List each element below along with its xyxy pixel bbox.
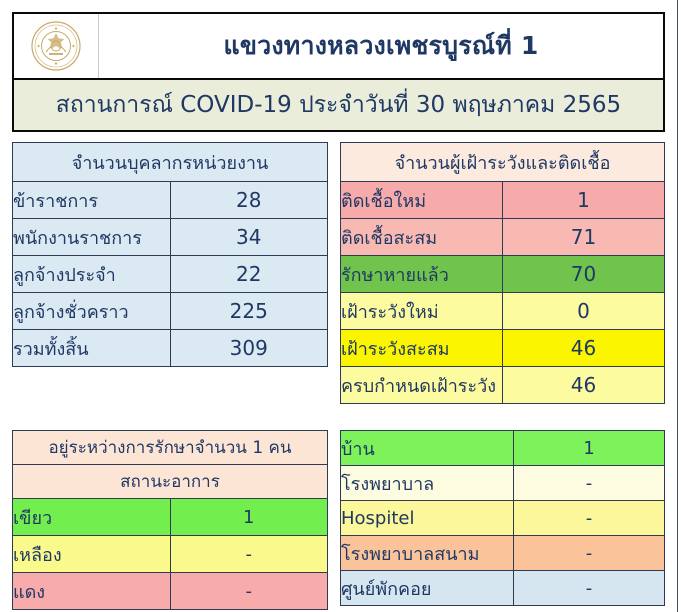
row-label: ลูกจ้างประจำ bbox=[13, 256, 171, 293]
row-label: โรงพยาบาล bbox=[341, 466, 514, 501]
table-row: เขียว 1 bbox=[13, 499, 328, 536]
row-label: แดง bbox=[13, 573, 171, 610]
row-label: Hospitel bbox=[341, 501, 514, 536]
row-value: 22 bbox=[170, 256, 328, 293]
row-value: - bbox=[514, 571, 665, 606]
row-value: - bbox=[514, 536, 665, 571]
row-value: 28 bbox=[170, 182, 328, 219]
table-row: ศูนย์พักคอย - bbox=[341, 571, 665, 606]
row-value: - bbox=[170, 573, 328, 610]
table-header-row: จำนวนบุคลากรหน่วยงาน bbox=[13, 143, 328, 182]
table-row: รวมทั้งสิ้น 309 bbox=[13, 330, 328, 367]
logo-cell bbox=[14, 14, 99, 78]
table-row: โรงพยาบาล - bbox=[341, 466, 665, 501]
table-row: ข้าราชการ 28 bbox=[13, 182, 328, 219]
surveillance-table-title: จำนวนผู้เฝ้าระวังและติดเชื้อ bbox=[341, 143, 665, 182]
poster-canvas: แขวงทางหลวงเพชรบูรณ์ที่ 1 สถานการณ์ COVI… bbox=[0, 0, 681, 612]
table-row: เหลือง - bbox=[13, 536, 328, 573]
row-value: 0 bbox=[503, 293, 665, 330]
header-title-cell: แขวงทางหลวงเพชรบูรณ์ที่ 1 bbox=[99, 14, 663, 78]
row-value: 46 bbox=[503, 367, 665, 404]
personnel-table-title: จำนวนบุคลากรหน่วยงาน bbox=[13, 143, 328, 182]
row-label: ติดเชื้อใหม่ bbox=[341, 182, 503, 219]
table-row: โรงพยาบาลสนาม - bbox=[341, 536, 665, 571]
row-label: พนักงานราชการ bbox=[13, 219, 171, 256]
location-table: บ้าน 1 โรงพยาบาล - Hospitel - โรงพยาบาลส… bbox=[340, 430, 665, 606]
page-title: แขวงทางหลวงเพชรบูรณ์ที่ 1 bbox=[224, 26, 539, 66]
table-row: ติดเชื้อใหม่ 1 bbox=[341, 182, 665, 219]
table-row: เฝ้าระวังใหม่ 0 bbox=[341, 293, 665, 330]
table-row: แดง - bbox=[13, 573, 328, 610]
table-header-row: อยู่ระหว่างการรักษาจำนวน 1 คน bbox=[13, 431, 328, 465]
row-value: 34 bbox=[170, 219, 328, 256]
row-value: 70 bbox=[503, 256, 665, 293]
row-label: เฝ้าระวังสะสม bbox=[341, 330, 503, 367]
page-edge-rule bbox=[677, 0, 678, 612]
row-label: บ้าน bbox=[341, 431, 514, 466]
report-date-line: สถานการณ์ COVID-19 ประจำวันที่ 30 พฤษภาค… bbox=[56, 87, 621, 123]
table-header-row: จำนวนผู้เฝ้าระวังและติดเชื้อ bbox=[341, 143, 665, 182]
row-label: เฝ้าระวังใหม่ bbox=[341, 293, 503, 330]
table-row: เฝ้าระวังสะสม 46 bbox=[341, 330, 665, 367]
row-value: 1 bbox=[170, 499, 328, 536]
status-table-subtitle: สถานะอาการ bbox=[13, 465, 328, 499]
row-label: เหลือง bbox=[13, 536, 171, 573]
row-label: ติดเชื้อสะสม bbox=[341, 219, 503, 256]
row-label: เขียว bbox=[13, 499, 171, 536]
row-value: - bbox=[514, 466, 665, 501]
personnel-table: จำนวนบุคลากรหน่วยงาน ข้าราชการ 28 พนักงา… bbox=[12, 142, 328, 367]
table-row: รักษาหายแล้ว 70 bbox=[341, 256, 665, 293]
row-label: ศูนย์พักคอย bbox=[341, 571, 514, 606]
table-row: พนักงานราชการ 34 bbox=[13, 219, 328, 256]
row-value: 309 bbox=[170, 330, 328, 367]
row-value: 225 bbox=[170, 293, 328, 330]
row-label: โรงพยาบาลสนาม bbox=[341, 536, 514, 571]
table-subheader-row: สถานะอาการ bbox=[13, 465, 328, 499]
department-of-highways-seal-icon bbox=[30, 20, 82, 72]
header-date-band: สถานการณ์ COVID-19 ประจำวันที่ 30 พฤษภาค… bbox=[14, 80, 663, 130]
table-row: ครบกำหนดเฝ้าระวัง 46 bbox=[341, 367, 665, 404]
table-row: ลูกจ้างชั่วคราว 225 bbox=[13, 293, 328, 330]
row-value: 71 bbox=[503, 219, 665, 256]
row-value: - bbox=[170, 536, 328, 573]
status-table: อยู่ระหว่างการรักษาจำนวน 1 คน สถานะอาการ… bbox=[12, 430, 328, 610]
row-label: ครบกำหนดเฝ้าระวัง bbox=[341, 367, 503, 404]
table-row: Hospitel - bbox=[341, 501, 665, 536]
header-box: แขวงทางหลวงเพชรบูรณ์ที่ 1 สถานการณ์ COVI… bbox=[12, 12, 665, 132]
table-row: บ้าน 1 bbox=[341, 431, 665, 466]
row-value: - bbox=[514, 501, 665, 536]
status-table-title: อยู่ระหว่างการรักษาจำนวน 1 คน bbox=[13, 431, 328, 465]
header-title-row: แขวงทางหลวงเพชรบูรณ์ที่ 1 bbox=[14, 14, 663, 80]
table-row: ติดเชื้อสะสม 71 bbox=[341, 219, 665, 256]
table-row: ลูกจ้างประจำ 22 bbox=[13, 256, 328, 293]
row-value: 1 bbox=[514, 431, 665, 466]
surveillance-table: จำนวนผู้เฝ้าระวังและติดเชื้อ ติดเชื้อใหม… bbox=[340, 142, 665, 404]
row-label: ข้าราชการ bbox=[13, 182, 171, 219]
row-value: 1 bbox=[503, 182, 665, 219]
row-label: รวมทั้งสิ้น bbox=[13, 330, 171, 367]
row-value: 46 bbox=[503, 330, 665, 367]
row-label: รักษาหายแล้ว bbox=[341, 256, 503, 293]
row-label: ลูกจ้างชั่วคราว bbox=[13, 293, 171, 330]
